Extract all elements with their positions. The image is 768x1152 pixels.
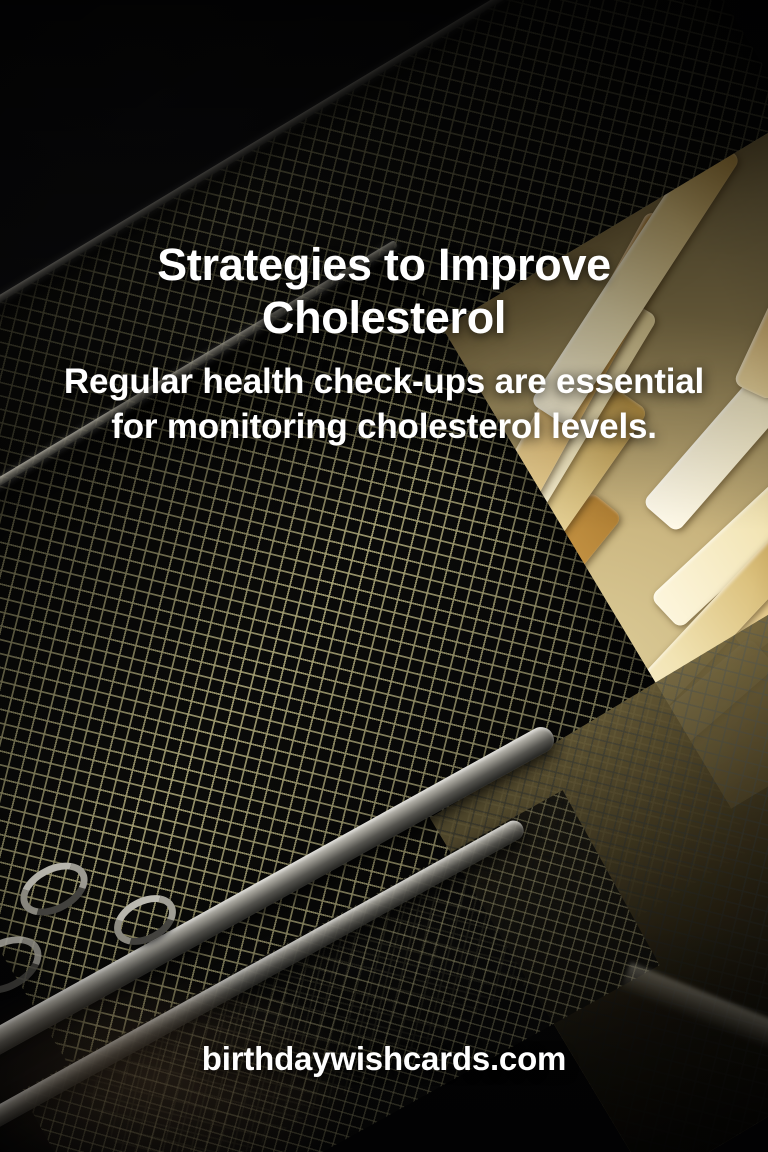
site-watermark: birthdaywishcards.com: [0, 1040, 768, 1078]
pin-headline: Strategies to Improve Cholesterol: [60, 238, 708, 344]
pin-subheadline: Regular health check-ups are essential f…: [52, 360, 716, 450]
text-overlay: Strategies to Improve Cholesterol Regula…: [0, 0, 768, 1152]
pinterest-pin-graphic: Strategies to Improve Cholesterol Regula…: [0, 0, 768, 1152]
